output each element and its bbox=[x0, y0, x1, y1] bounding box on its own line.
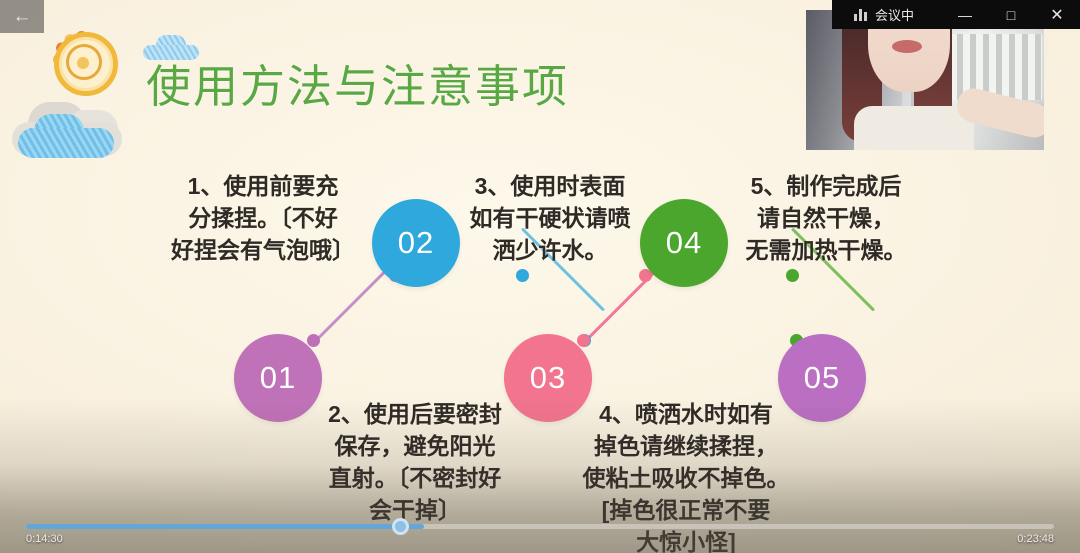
back-button[interactable]: ← bbox=[0, 0, 44, 33]
connector-dot-04b bbox=[786, 269, 799, 282]
meeting-signal-icon bbox=[854, 8, 867, 21]
page-title: 使用方法与注意事项 bbox=[146, 50, 569, 115]
step-text-01: 1、使用前要充 分揉捏。〔不好 好捏会有气泡哦〕 bbox=[146, 170, 380, 266]
webcam-person-lips bbox=[892, 40, 922, 53]
playback-progress-track[interactable] bbox=[26, 524, 1054, 529]
step-circle-02[interactable]: 02 bbox=[372, 199, 460, 287]
video-player-window: 使用方法与注意事项 01 02 03 04 05 1、使用前要充 分揉捏。〔不好… bbox=[0, 0, 1080, 553]
cloud-icon bbox=[10, 96, 128, 158]
step-text-04: 4、喷洒水时如有 掉色请继续揉捏， 使粘土吸收不掉色。 [掉色很正常不要 大惊小… bbox=[563, 398, 809, 553]
webcam-person-torso bbox=[854, 106, 974, 150]
connector-dot-02b bbox=[516, 269, 529, 282]
window-titlebar: 会议中 — □ ✕ bbox=[832, 0, 1080, 29]
step-text-05: 5、制作完成后 请自然干燥， 无需加热干燥。 bbox=[726, 170, 926, 266]
maximize-button[interactable]: □ bbox=[988, 0, 1034, 29]
step-text-02: 2、使用后要密封 保存，避免阳光 直射。〔不密封好 会干掉〕 bbox=[295, 398, 535, 526]
playback-progress-handle[interactable] bbox=[392, 518, 409, 535]
connector-dot-03b bbox=[577, 334, 590, 347]
current-time-label: 0:14:30 bbox=[26, 533, 63, 545]
close-button[interactable]: ✕ bbox=[1034, 0, 1080, 29]
connector-dot-01 bbox=[307, 334, 320, 347]
step-circle-04[interactable]: 04 bbox=[640, 199, 728, 287]
sun-face-icon bbox=[66, 44, 102, 80]
total-time-label: 0:23:48 bbox=[1017, 533, 1054, 545]
meeting-status-label: 会议中 bbox=[875, 5, 914, 24]
minimize-button[interactable]: — bbox=[942, 0, 988, 29]
step-text-03: 3、使用时表面 如有干硬状请喷 洒少许水。 bbox=[452, 170, 648, 266]
webcam-video-tile[interactable] bbox=[806, 10, 1044, 150]
window-controls: — □ ✕ bbox=[942, 0, 1080, 29]
playback-progress-fill bbox=[26, 524, 424, 529]
